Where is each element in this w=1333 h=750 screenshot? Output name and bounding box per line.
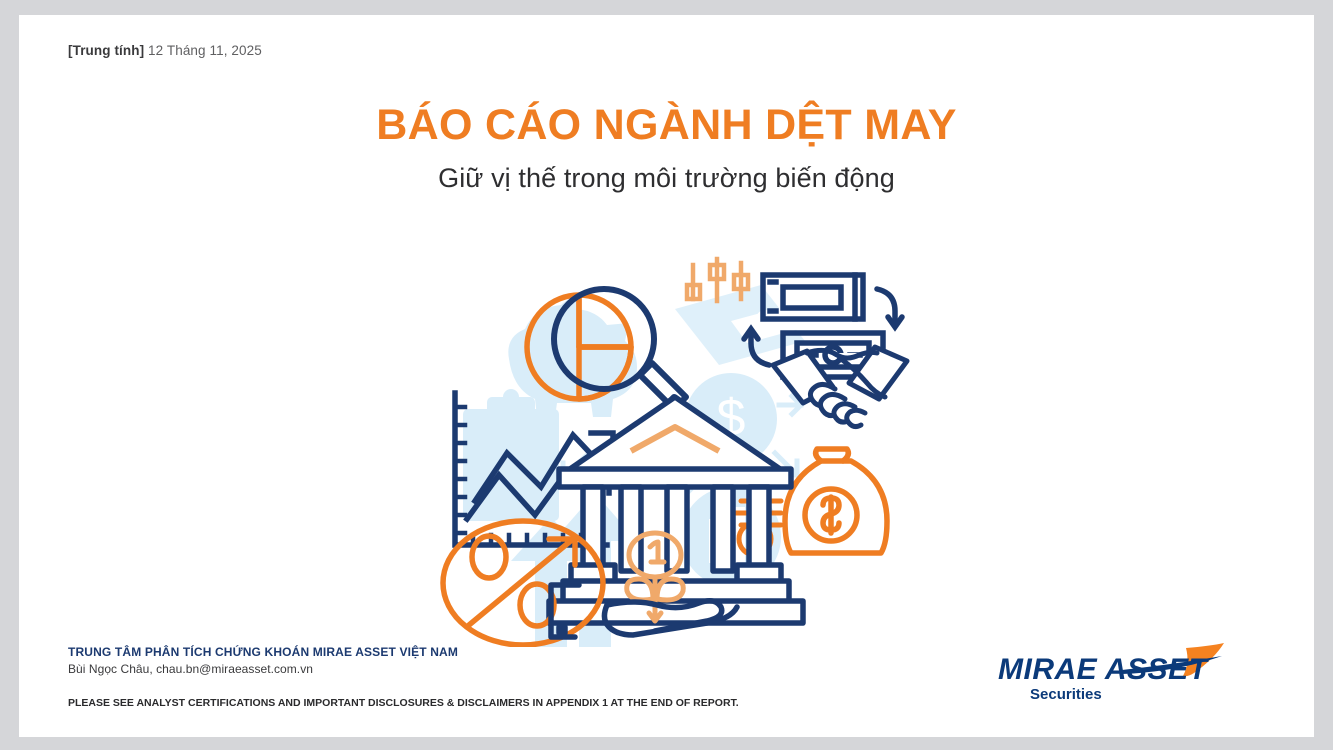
disclaimer-text: PLEASE SEE ANALYST CERTIFICATIONS AND IM…	[68, 697, 968, 709]
footer-block: TRUNG TÂM PHÂN TÍCH CHỨNG KHOÁN MIRAE AS…	[68, 644, 968, 709]
slide-page: [Trung tính] 12 Tháng 11, 2025 BÁO CÁO N…	[19, 15, 1314, 737]
cover-illustration: $	[431, 247, 951, 647]
page-title: BÁO CÁO NGÀNH DỆT MAY	[19, 103, 1314, 148]
analyst-contact: Bùi Ngọc Châu, chau.bn@miraeasset.com.vn	[68, 661, 968, 677]
logo-tagline: Securities	[1030, 686, 1102, 703]
slide-frame: [Trung tính] 12 Tháng 11, 2025 BÁO CÁO N…	[0, 0, 1333, 750]
logo-wordmark: MIRAE ASSET	[998, 653, 1210, 686]
report-meta: [Trung tính] 12 Tháng 11, 2025	[68, 43, 262, 58]
candlestick-slider-icon	[687, 259, 748, 301]
page-subtitle: Giữ vị thế trong môi trường biến động	[19, 164, 1314, 194]
research-center-name: TRUNG TÂM PHÂN TÍCH CHỨNG KHOÁN MIRAE AS…	[68, 644, 968, 660]
title-block: BÁO CÁO NGÀNH DỆT MAY Giữ vị thế trong m…	[19, 103, 1314, 194]
mirae-asset-logo: MIRAE ASSET Securities	[998, 643, 1230, 705]
rating-badge: [Trung tính]	[68, 43, 144, 58]
report-date: 12 Tháng 11, 2025	[148, 43, 262, 58]
